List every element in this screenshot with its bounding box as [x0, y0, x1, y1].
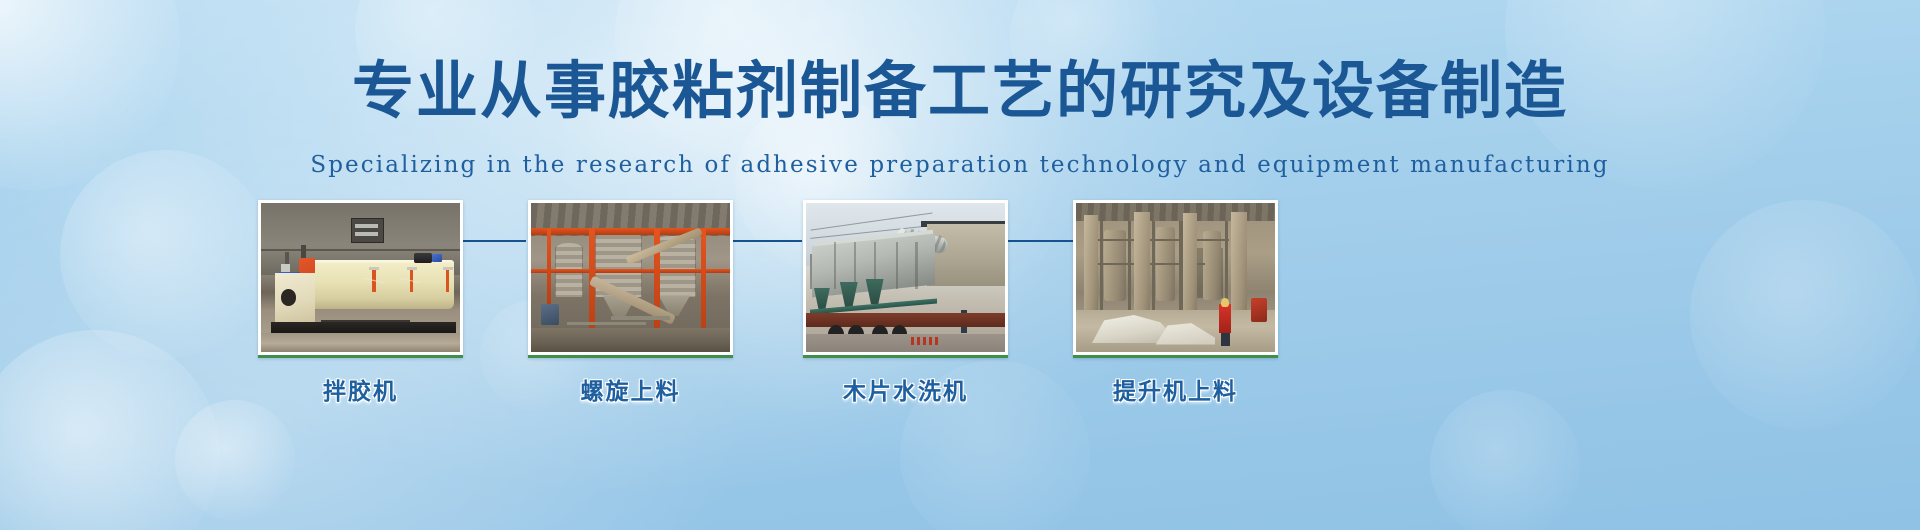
- process-connector-line: [1008, 240, 1073, 242]
- process-card-strip: 拌胶机 螺旋上料: [258, 200, 1662, 440]
- photo-frame: [1073, 200, 1278, 358]
- photo-frame: [258, 200, 463, 358]
- bokeh-circle: [0, 330, 220, 530]
- process-card-caption: 提升机上料: [1073, 372, 1278, 406]
- process-card-caption: 木片水洗机: [803, 372, 1008, 406]
- process-connector-line: [461, 240, 526, 242]
- banner-subtitle: Specializing in the research of adhesive…: [0, 152, 1920, 178]
- process-card-wood-chip-washer[interactable]: 木片水洗机: [803, 200, 1008, 358]
- bucket-elevator-feeding-photo: [1076, 203, 1275, 352]
- bokeh-circle: [60, 150, 270, 360]
- banner-headline: 专业从事胶粘剂制备工艺的研究及设备制造: [0, 58, 1920, 125]
- process-card-bucket-elevator[interactable]: 提升机上料: [1073, 200, 1278, 358]
- photo-frame: [803, 200, 1008, 358]
- screw-conveyor-feeding-photo: [531, 203, 730, 352]
- process-card-caption: 螺旋上料: [528, 372, 733, 406]
- glue-mixer-machine-photo: [261, 203, 460, 352]
- process-card-screw-conveyor[interactable]: 螺旋上料: [528, 200, 733, 358]
- promo-banner: 专业从事胶粘剂制备工艺的研究及设备制造 Specializing in the …: [0, 0, 1920, 530]
- wood-chip-washing-machine-photo: [806, 203, 1005, 352]
- process-card-glue-mixer[interactable]: 拌胶机: [258, 200, 463, 358]
- process-connector-line: [732, 240, 802, 242]
- bokeh-circle: [1690, 200, 1920, 430]
- photo-frame: [528, 200, 733, 358]
- process-card-caption: 拌胶机: [258, 372, 463, 406]
